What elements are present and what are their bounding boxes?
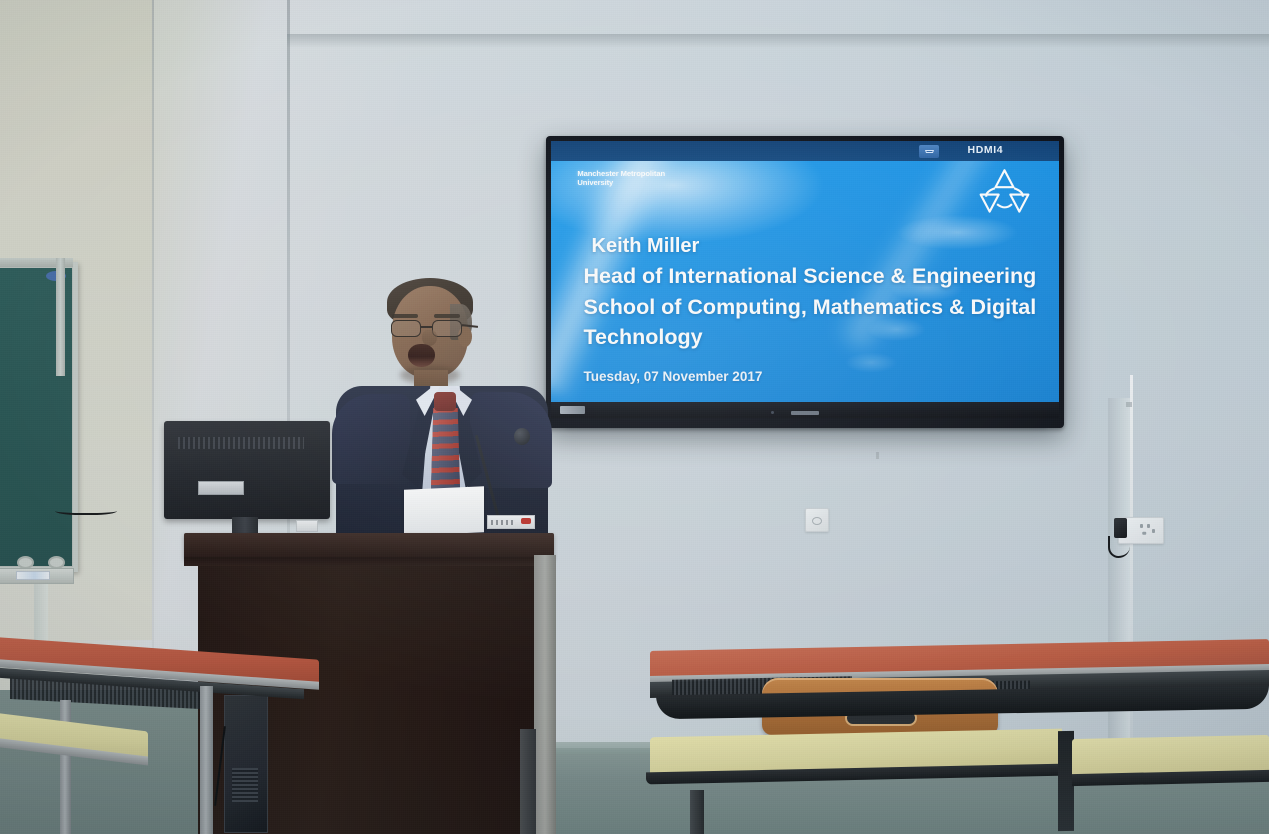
photo-vignette bbox=[0, 0, 1269, 834]
lecture-hall-photo: HDMI4 Manchester Metropolitan University bbox=[0, 0, 1269, 834]
